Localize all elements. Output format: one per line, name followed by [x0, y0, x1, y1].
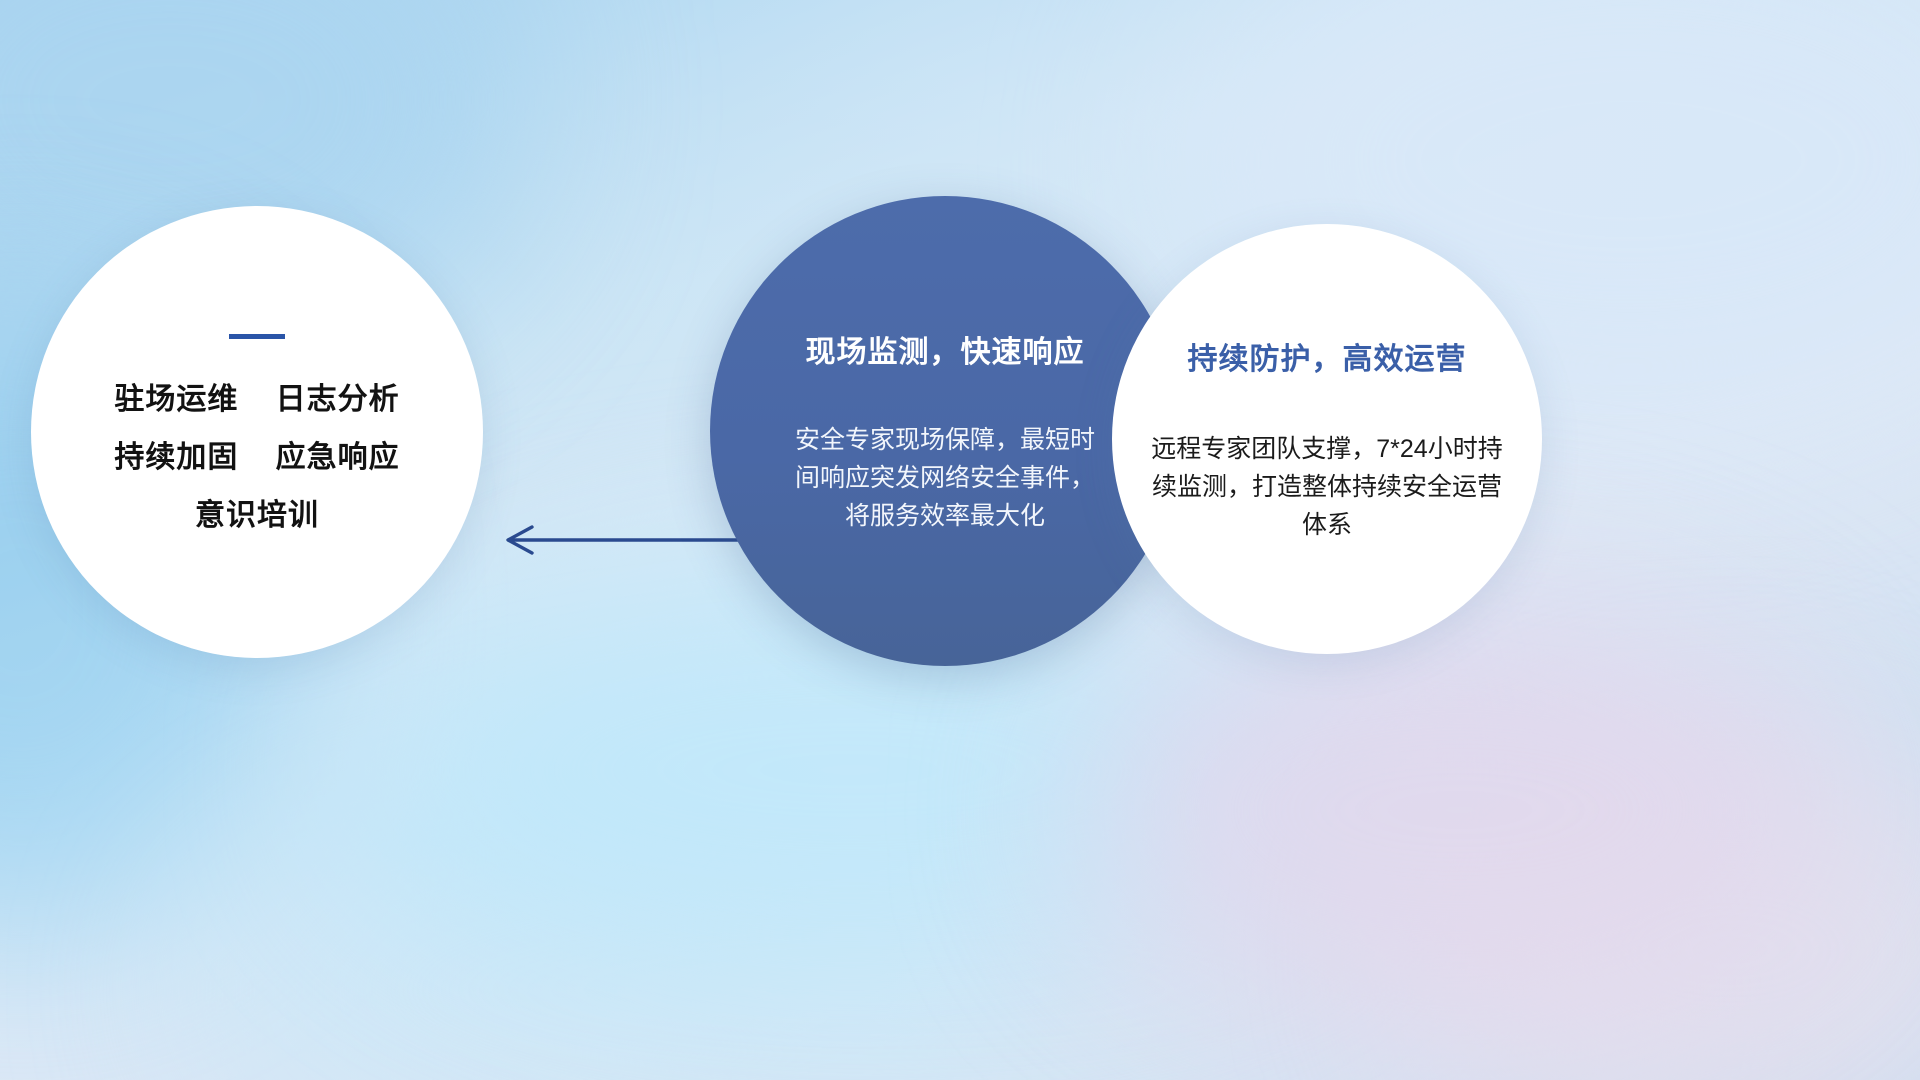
capability-keyword-list: 驻场运维 日志分析 持续加固 应急响应 意识培训 [114, 385, 399, 531]
card-body-text: 远程专家团队支撑，7*24小时持续监测，打造整体持续安全运营体系 [1149, 430, 1505, 544]
list-item: 意识培训 [114, 501, 399, 531]
card-continuous-protection[interactable]: 持续防护，高效运营 远程专家团队支撑，7*24小时持续监测，打造整体持续安全运营… [1112, 224, 1542, 654]
card-title: 现场监测，快速响应 [806, 327, 1085, 371]
accent-divider [229, 334, 285, 339]
list-item: 驻场运维 日志分析 [114, 385, 399, 415]
card-title: 持续防护，高效运营 [1188, 334, 1467, 378]
card-capabilities[interactable]: 驻场运维 日志分析 持续加固 应急响应 意识培训 [31, 206, 483, 658]
list-item: 持续加固 应急响应 [114, 443, 399, 473]
card-body-text: 安全专家现场保障，最短时间响应突发网络安全事件，将服务效率最大化 [795, 421, 1095, 535]
three-circle-diagram: 驻场运维 日志分析 持续加固 应急响应 意识培训 现场监测，快速响应 安全专家现… [0, 0, 1920, 1080]
card-onsite-monitoring[interactable]: 现场监测，快速响应 安全专家现场保障，最短时间响应突发网络安全事件，将服务效率最… [710, 196, 1180, 666]
